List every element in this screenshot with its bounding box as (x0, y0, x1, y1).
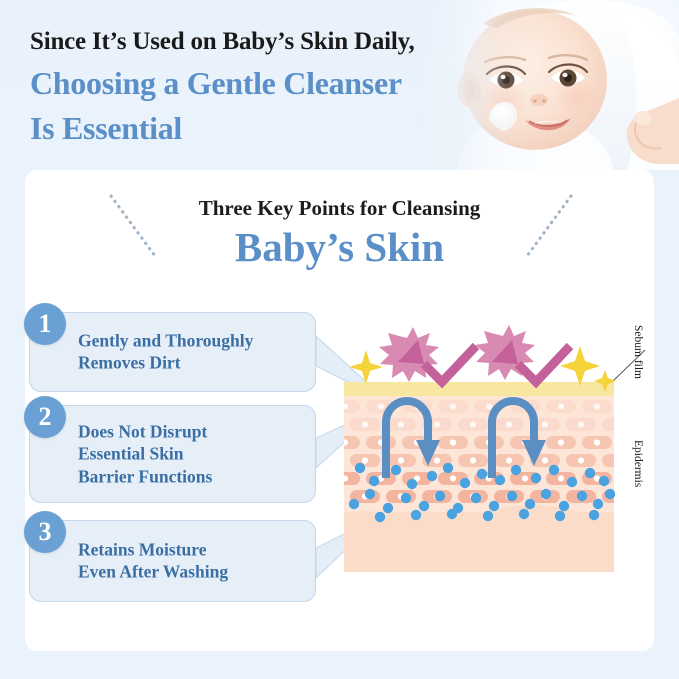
card-title: Baby’s Skin (25, 223, 654, 271)
point-box-2[interactable]: 2 Does Not Disrupt Essential Skin Barrie… (29, 405, 316, 503)
label-epidermis: Epidermis (632, 440, 644, 487)
point-text-1: Gently and Thoroughly Removes Dirt (78, 330, 328, 375)
header-banner: Since It’s Used on Baby’s Skin Daily, Ch… (0, 0, 679, 170)
point-number-2: 2 (24, 396, 66, 438)
sparkle-icon-left (349, 350, 383, 384)
point-number-1: 1 (24, 303, 66, 345)
point-box-1[interactable]: 1 Gently and Thoroughly Removes Dirt (29, 312, 316, 392)
point-number-3: 3 (24, 511, 66, 553)
point-text-3: Retains Moisture Even After Washing (78, 539, 328, 584)
card-subtitle: Three Key Points for Cleansing (25, 196, 654, 221)
point-text-2: Does Not Disrupt Essential Skin Barrier … (78, 420, 328, 487)
baby-photo (417, 0, 679, 170)
point-box-3[interactable]: 3 Retains Moisture Even After Washing (29, 520, 316, 602)
skin-cross-section-diagram (340, 318, 618, 580)
header-line-1: Since It’s Used on Baby’s Skin Daily, (30, 28, 415, 56)
header-line-3: Is Essential (30, 110, 182, 147)
label-sebum-film: Sebum film (632, 325, 644, 379)
header-line-2: Choosing a Gentle Cleanser (30, 65, 402, 102)
